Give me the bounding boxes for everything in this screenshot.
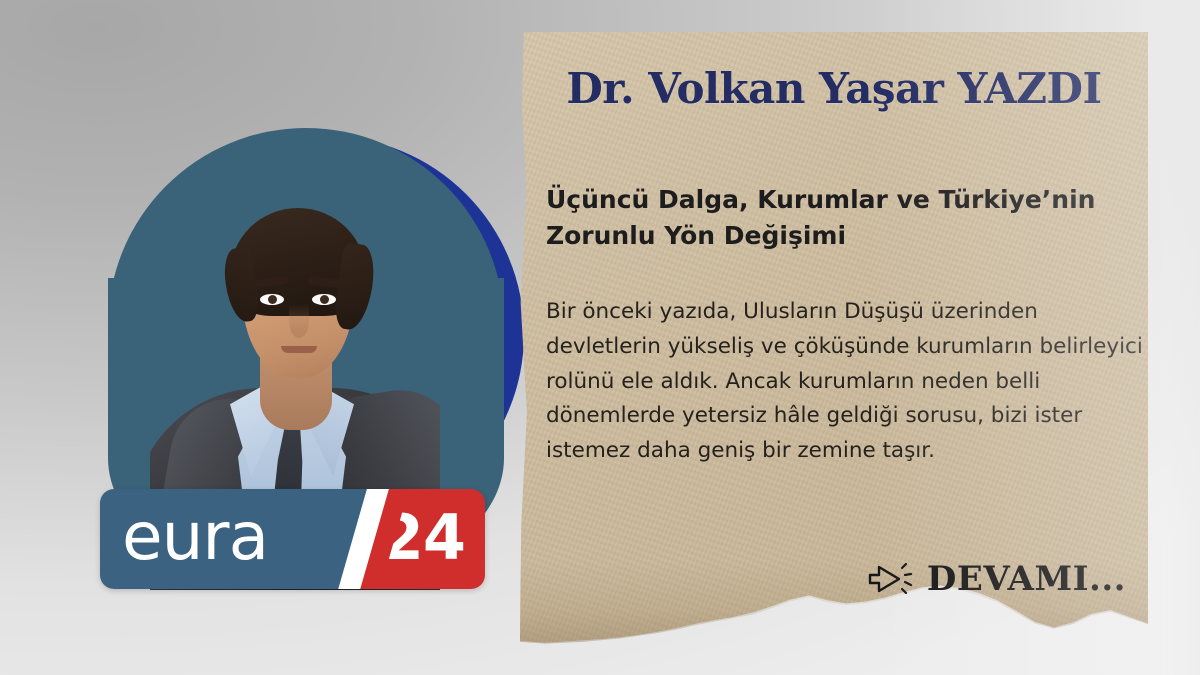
author-name-heading: Dr. Volkan Yaşar YAZDI [520, 64, 1148, 113]
photo-nose [289, 304, 309, 338]
article-subtitle: Üçüncü Dalga, Kurumlar ve Türkiye’nin Zo… [546, 182, 1126, 253]
eura24-logo[interactable]: eura 24 [100, 489, 485, 589]
article-promo-card: eura 24 Dr. Volkan Yaşar YAZDI Üçüncü Da… [0, 0, 1200, 675]
read-more-button[interactable]: DEVAMI... [867, 559, 1126, 599]
photo-mouth [281, 346, 317, 353]
paper-content: Dr. Volkan Yaşar YAZDI Üçüncü Dalga, Kur… [520, 32, 1148, 647]
article-excerpt: Bir önceki yazıda, Ulusların Düşüşü üzer… [546, 295, 1146, 469]
photo-pupil-left [268, 295, 277, 304]
read-more-label: DEVAMI... [927, 559, 1126, 599]
photo-pupil-right [320, 295, 329, 304]
click-cursor-icon [867, 562, 913, 596]
logo-wordmark: eura [100, 504, 268, 570]
logo-left-panel: eura [100, 489, 368, 589]
